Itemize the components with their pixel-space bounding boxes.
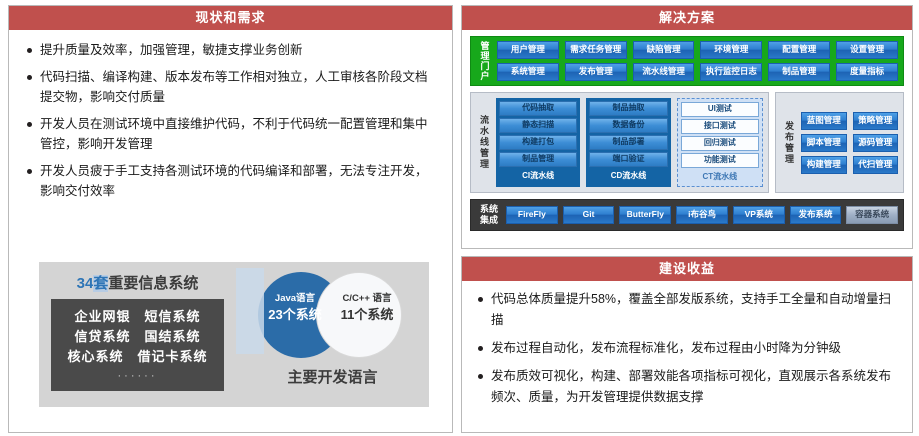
release-button[interactable]: 源码管理: [853, 134, 899, 152]
bullet-dot-icon: [27, 122, 32, 127]
bullet-dot-icon: [27, 48, 32, 53]
pipeline-stage-button[interactable]: 制品部署: [589, 135, 667, 150]
release-label: 发布管理: [781, 98, 797, 187]
pipeline-stage-button[interactable]: 代码抽取: [499, 101, 577, 116]
list-item: 提升质量及效率，加强管理，敏捷支撑业务创新: [25, 40, 438, 60]
list-item: 发布过程自动化，发布流程标准化，发布过程由小时降为分钟级: [476, 338, 900, 359]
pipeline-stage-button[interactable]: 接口测试: [681, 119, 759, 134]
language-card: Java语言 23个系统 C/C++ 语言 11个系统 主要开发语言: [236, 262, 429, 407]
bullet-dot-icon: [27, 169, 32, 174]
panel-current-title: 现状和需求: [9, 6, 452, 30]
systems-dark-box: 企业网银 短信系统 信贷系统 国结系统 核心系统 借记卡系统 ······: [51, 299, 224, 391]
portal-button[interactable]: 用户管理: [497, 41, 559, 59]
systems-card: 34套重要信息系统 企业网银 短信系统 信贷系统 国结系统 核心系统 借记卡系统…: [39, 262, 236, 407]
bullet-text: 开发人员在测试环境中直接维护代码，不利于代码统一配置管理和集中管控，影响开发管理: [40, 114, 438, 154]
bullet-text: 提升质量及效率，加强管理，敏捷支撑业务创新: [40, 40, 303, 60]
pipeline-columns: 代码抽取静态扫描构建打包制品管理CI流水线制品抽取数据备份制品部署端口验证CD流…: [496, 98, 763, 187]
bullet-text: 发布质效可视化，构建、部署效能各项指标可视化，直观展示各系统发布频次、质量，为开…: [491, 366, 900, 408]
management-portal-block: 管理门户 用户管理需求任务管理缺陷管理环境管理配置管理设置管理系统管理发布管理流…: [470, 36, 904, 86]
integration-block: 系统集成 FireFlyGitButterFlyi布谷鸟VP系统发布系统容器系统: [470, 199, 904, 231]
bullet-text: 代码扫描、编译构建、版本发布等工作相对独立，人工审核各阶段文档提交物，影响交付质…: [40, 67, 438, 107]
solution-body: 管理门户 用户管理需求任务管理缺陷管理环境管理配置管理设置管理系统管理发布管理流…: [462, 30, 912, 237]
benefit-bullet-list: 代码总体质量提升58%，覆盖全部发版系统，支持手工全量和自动增量扫描 发布过程自…: [462, 281, 912, 408]
integration-button[interactable]: VP系统: [733, 206, 785, 224]
panel-benefit-title: 建设收益: [462, 257, 912, 281]
pipeline-column-ci: 代码抽取静态扫描构建打包制品管理CI流水线: [496, 98, 580, 187]
portal-label: 管理门户: [476, 41, 492, 81]
pipeline-block: 流水线管理 代码抽取静态扫描构建打包制品管理CI流水线制品抽取数据备份制品部署端…: [470, 92, 769, 193]
pipeline-column-caption: CD流水线: [589, 169, 667, 182]
stats-strip: 34套重要信息系统 企业网银 短信系统 信贷系统 国结系统 核心系统 借记卡系统…: [39, 262, 429, 407]
integration-button[interactable]: i布谷鸟: [676, 206, 728, 224]
portal-button-grid: 用户管理需求任务管理缺陷管理环境管理配置管理设置管理系统管理发布管理流水线管理执…: [497, 41, 898, 81]
portal-button[interactable]: 缺陷管理: [633, 41, 695, 59]
release-button[interactable]: 构建管理: [801, 156, 847, 174]
pipeline-column-ct: UI测试接口测试回归测试功能测试CT流水线: [677, 98, 763, 187]
panel-solution-title: 解决方案: [462, 6, 912, 30]
portal-button[interactable]: 系统管理: [497, 63, 559, 81]
systems-unit: 套: [93, 275, 108, 292]
list-item: 代码扫描、编译构建、版本发布等工作相对独立，人工审核各阶段文档提交物，影响交付质…: [25, 67, 438, 107]
portal-button[interactable]: 环境管理: [700, 41, 762, 59]
integration-label: 系统集成: [476, 204, 502, 226]
release-button[interactable]: 策略管理: [853, 112, 899, 130]
pipeline-column-caption: CI流水线: [499, 169, 577, 182]
pipeline-stage-button[interactable]: 数据备份: [589, 118, 667, 133]
slide-root: 现状和需求 提升质量及效率，加强管理，敏捷支撑业务创新 代码扫描、编译构建、版本…: [0, 0, 919, 436]
venn-cpp-count: 11个系统: [324, 306, 410, 324]
portal-button[interactable]: 配置管理: [768, 41, 830, 59]
portal-button[interactable]: 设置管理: [836, 41, 898, 59]
bullet-dot-icon: [27, 75, 32, 80]
portal-button[interactable]: 流水线管理: [633, 63, 695, 81]
release-block: 发布管理 蓝图管理策略管理脚本管理源码管理构建管理代扫管理: [775, 92, 904, 193]
bullet-dot-icon: [478, 297, 483, 302]
list-item: 开发人员在测试环境中直接维护代码，不利于代码统一配置管理和集中管控，影响开发管理: [25, 114, 438, 154]
panel-current-situation: 现状和需求 提升质量及效率，加强管理，敏捷支撑业务创新 代码扫描、编译构建、版本…: [8, 5, 453, 433]
portal-button[interactable]: 执行监控日志: [700, 63, 762, 81]
venn-cpp-name: C/C++ 语言: [324, 292, 410, 306]
bullet-text: 发布过程自动化，发布流程标准化，发布过程由小时降为分钟级: [491, 338, 841, 359]
pipeline-release-row: 流水线管理 代码抽取静态扫描构建打包制品管理CI流水线制品抽取数据备份制品部署端…: [470, 92, 904, 193]
pipeline-label: 流水线管理: [476, 98, 492, 187]
pipeline-stage-button[interactable]: 制品管理: [499, 152, 577, 167]
system-ellipsis: ······: [51, 367, 224, 385]
portal-button[interactable]: 制品管理: [768, 63, 830, 81]
panel-benefit: 建设收益 代码总体质量提升58%，覆盖全部发版系统，支持手工全量和自动增量扫描 …: [461, 256, 913, 433]
pipeline-stage-button[interactable]: UI测试: [681, 102, 759, 117]
bullet-text: 代码总体质量提升58%，覆盖全部发版系统，支持手工全量和自动增量扫描: [491, 289, 900, 331]
integration-button-row: FireFlyGitButterFlyi布谷鸟VP系统发布系统容器系统: [506, 206, 898, 224]
bullet-dot-icon: [478, 346, 483, 351]
venn-diagram: Java语言 23个系统 C/C++ 语言 11个系统: [236, 268, 429, 364]
release-button[interactable]: 代扫管理: [853, 156, 899, 174]
venn-caption: 主要开发语言: [236, 366, 429, 387]
release-button[interactable]: 蓝图管理: [801, 112, 847, 130]
pipeline-stage-button[interactable]: 构建打包: [499, 135, 577, 150]
list-item: 开发人员疲于手工支持各测试环境的代码编译和部署，无法专注开发，影响交付效率: [25, 161, 438, 201]
pipeline-column-cd: 制品抽取数据备份制品部署端口验证CD流水线: [586, 98, 670, 187]
bullet-dot-icon: [478, 374, 483, 379]
release-button-grid: 蓝图管理策略管理脚本管理源码管理构建管理代扫管理: [801, 98, 898, 187]
portal-button[interactable]: 需求任务管理: [565, 41, 627, 59]
list-item: 发布质效可视化，构建、部署效能各项指标可视化，直观展示各系统发布频次、质量，为开…: [476, 366, 900, 408]
pipeline-column-caption: CT流水线: [681, 170, 759, 183]
systems-card-title: 34套重要信息系统: [45, 272, 230, 293]
integration-button[interactable]: ButterFly: [619, 206, 671, 224]
systems-title-rest: 重要信息系统: [108, 275, 198, 292]
integration-button[interactable]: FireFly: [506, 206, 558, 224]
pipeline-stage-button[interactable]: 端口验证: [589, 152, 667, 167]
pipeline-stage-button[interactable]: 回归测试: [681, 136, 759, 151]
integration-button[interactable]: Git: [563, 206, 615, 224]
release-button[interactable]: 脚本管理: [801, 134, 847, 152]
system-line: 企业网银 短信系统: [51, 307, 224, 327]
system-line: 核心系统 借记卡系统: [51, 347, 224, 367]
portal-button[interactable]: 发布管理: [565, 63, 627, 81]
panel-solution: 解决方案 管理门户 用户管理需求任务管理缺陷管理环境管理配置管理设置管理系统管理…: [461, 5, 913, 249]
bullet-text: 开发人员疲于手工支持各测试环境的代码编译和部署，无法专注开发，影响交付效率: [40, 161, 438, 201]
systems-count: 34: [77, 275, 94, 292]
portal-button[interactable]: 度量指标: [836, 63, 898, 81]
venn-label-cpp: C/C++ 语言 11个系统: [324, 292, 410, 324]
system-line: 信贷系统 国结系统: [51, 327, 224, 347]
current-bullet-list: 提升质量及效率，加强管理，敏捷支撑业务创新 代码扫描、编译构建、版本发布等工作相…: [9, 30, 452, 201]
integration-button[interactable]: 容器系统: [846, 206, 898, 224]
pipeline-stage-button[interactable]: 制品抽取: [589, 101, 667, 116]
pipeline-stage-button[interactable]: 静态扫描: [499, 118, 577, 133]
pipeline-stage-button[interactable]: 功能测试: [681, 153, 759, 168]
integration-button[interactable]: 发布系统: [790, 206, 842, 224]
list-item: 代码总体质量提升58%，覆盖全部发版系统，支持手工全量和自动增量扫描: [476, 289, 900, 331]
